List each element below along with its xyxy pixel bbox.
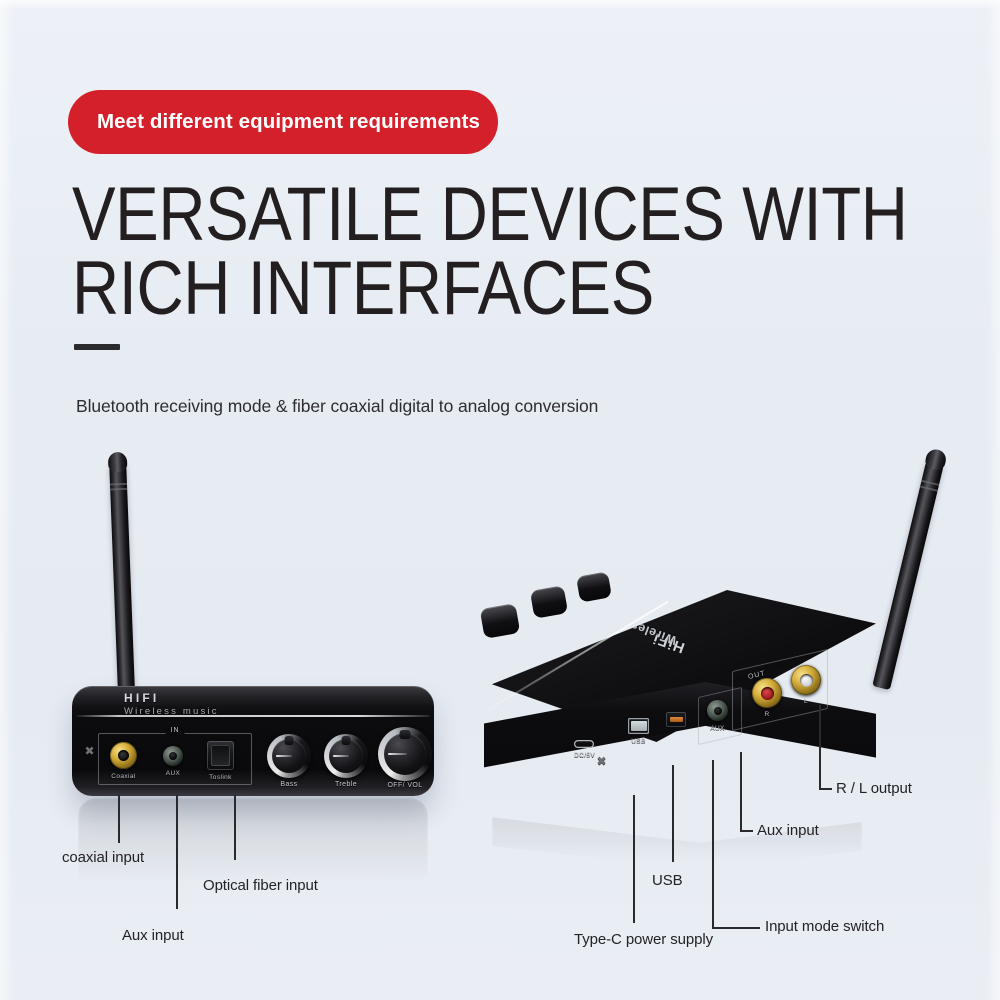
- port-rca-left-out[interactable]: L: [791, 665, 821, 695]
- callout-type-c-power-supply: Type-C power supply: [574, 931, 713, 948]
- headline-line-2: RICH INTERFACES: [72, 252, 829, 326]
- antenna-tip-left: [108, 452, 128, 473]
- leader-rl-output-h: [819, 788, 832, 790]
- leader-mode-switch-h: [712, 927, 760, 929]
- callout-usb: USB: [652, 872, 683, 889]
- aux-jack-icon: [163, 746, 183, 766]
- usb-c-icon: [574, 740, 594, 748]
- port-aux-label: AUX: [163, 770, 183, 777]
- port-aux-right-label: AUX: [707, 725, 728, 732]
- leader-optical: [234, 795, 236, 860]
- port-usb-c[interactable]: DC/5V: [574, 740, 594, 748]
- brand-subtitle-text: Wireless music: [124, 706, 219, 717]
- port-coaxial[interactable]: Coaxial: [110, 742, 137, 769]
- port-rca-l-label: L: [791, 698, 821, 705]
- leader-usb: [672, 765, 674, 862]
- knob-treble[interactable]: Treble: [324, 734, 368, 778]
- device-left-brand: HIFI Wireless music: [124, 691, 219, 717]
- port-aux-in[interactable]: AUX: [163, 746, 183, 766]
- badge-label: Meet different equipment requirements: [68, 110, 480, 134]
- port-rca-right-out[interactable]: R: [752, 678, 782, 708]
- port-usb-label: USB: [628, 738, 649, 745]
- device-left-front-panel: HIFI Wireless music ✖ ✖ IN Coaxial AUX T…: [72, 686, 434, 796]
- headline-line-1: VERSATILE DEVICES WITH: [72, 178, 829, 252]
- brand-hifi-text: HIFI: [124, 691, 219, 705]
- leader-type-c: [633, 795, 635, 923]
- knob-far-3: [576, 571, 612, 602]
- usb-a-icon: [628, 718, 649, 734]
- callout-coaxial-input: coaxial input: [62, 849, 144, 866]
- port-toslink-label: Toslink: [207, 774, 234, 781]
- antenna-tip-right: [924, 447, 948, 471]
- subtitle: Bluetooth receiving mode & fiber coaxial…: [76, 396, 598, 417]
- rca-white-icon: [791, 665, 821, 695]
- leader-mode-switch-v: [712, 760, 714, 928]
- leader-aux-right-v: [740, 752, 742, 831]
- rca-red-icon: [752, 678, 782, 708]
- leader-coaxial: [118, 795, 120, 843]
- knob-volume[interactable]: OFF/ VOL: [378, 727, 432, 781]
- rca-gold-icon: [110, 742, 137, 769]
- title-divider: [74, 344, 120, 350]
- callout-aux-input-left: Aux input: [122, 927, 184, 944]
- headline-badge: Meet different equipment requirements: [68, 90, 498, 154]
- aux-jack-icon-right: [707, 700, 728, 721]
- port-rca-r-label: R: [752, 711, 782, 718]
- slide-switch-icon: [666, 712, 686, 727]
- port-input-mode-switch[interactable]: [666, 712, 686, 727]
- optical-port-icon: [207, 741, 234, 770]
- port-coaxial-label: Coaxial: [110, 773, 137, 780]
- knob-treble-label: Treble: [335, 781, 357, 788]
- knob-volume-label: OFF/ VOL: [387, 782, 422, 789]
- callout-aux-input-right: Aux input: [757, 822, 819, 839]
- page-title: VERSATILE DEVICES WITH RICH INTERFACES: [72, 178, 952, 327]
- device-right-rear-panel: HiFi Wireless music ✖ OUT R: [470, 560, 890, 820]
- port-aux-right[interactable]: AUX: [707, 700, 728, 721]
- leader-aux-left: [176, 795, 178, 909]
- screw-icon-right-device: ✖: [596, 756, 607, 767]
- knob-bass[interactable]: Bass: [267, 734, 311, 778]
- callout-optical-fiber-input: Optical fiber input: [203, 877, 318, 894]
- knob-far-1: [480, 603, 521, 639]
- knob-far-2: [530, 585, 568, 618]
- leader-aux-right-h: [740, 830, 753, 832]
- knob-bass-label: Bass: [280, 781, 297, 788]
- product-feature-page: Meet different equipment requirements VE…: [0, 0, 1000, 1000]
- port-usb-a[interactable]: USB: [628, 718, 649, 734]
- input-group-label: IN: [166, 727, 185, 734]
- callout-input-mode-switch: Input mode switch: [765, 918, 884, 935]
- screw-icon-left: ✖: [84, 746, 95, 757]
- port-dc5v-label: DC/5V: [574, 752, 594, 759]
- callout-rl-output: R / L output: [836, 780, 912, 797]
- leader-rl-output-v: [819, 705, 821, 789]
- port-toslink[interactable]: Toslink: [207, 741, 234, 770]
- antenna-left: [109, 461, 135, 693]
